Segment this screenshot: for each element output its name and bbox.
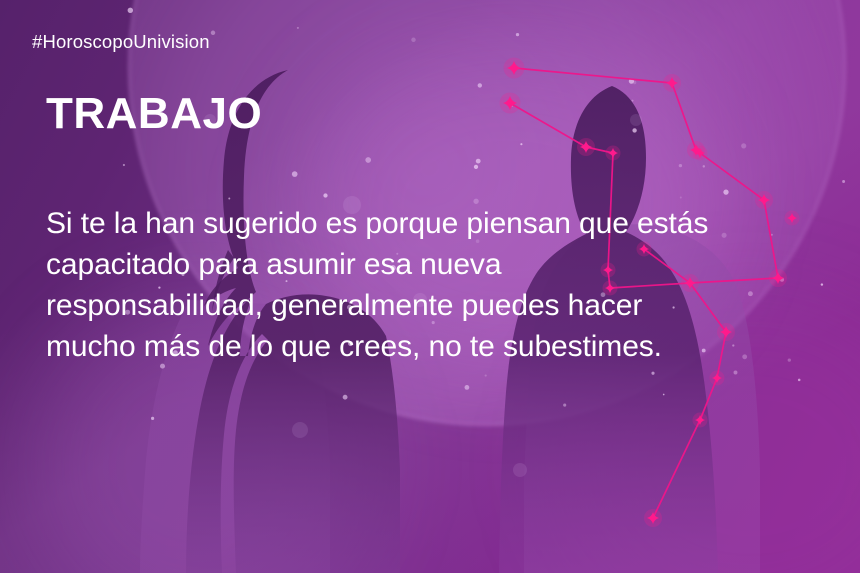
constellation-line [653,420,700,518]
body-text-line: capacitado para asumir esa nueva [46,244,806,285]
constellation-line [514,68,672,83]
constellation-line [696,150,764,200]
body-text-line: mucho más de lo que crees, no te subesti… [46,326,806,367]
horoscope-card: #HoroscopoUnivision TRABAJO Si te la han… [0,0,860,573]
hashtag-label: #HoroscopoUnivision [32,31,210,53]
constellation-line [672,83,696,150]
body-text-line: responsabilidad, generalmente puedes hac… [46,285,806,326]
page-title: TRABAJO [46,92,262,136]
body-text-line: Si te la han sugerido es porque piensan … [46,203,806,244]
horoscope-body-text: Si te la han sugerido es porque piensan … [46,203,806,367]
constellation-line [510,103,586,147]
